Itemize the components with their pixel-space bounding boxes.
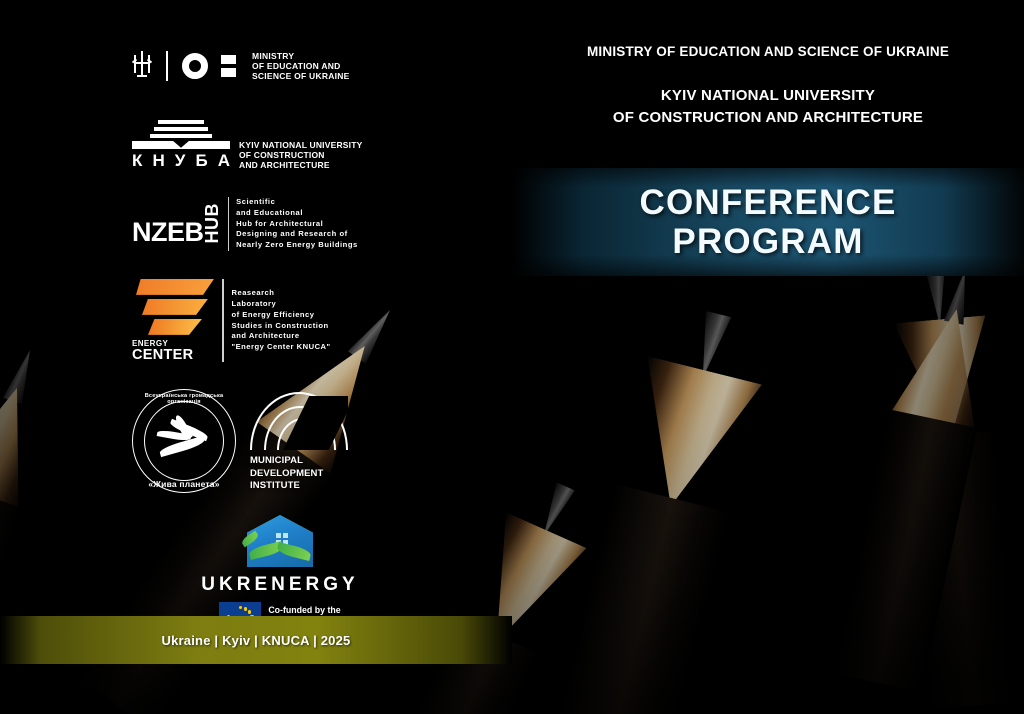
right-panel: MINISTRY OF EDUCATION AND SCIENCE OF UKR… bbox=[512, 0, 1024, 714]
zhyva-planeta-ring-top: Всеукраїнська громадська організація bbox=[133, 393, 235, 405]
ministry-ring-icon bbox=[182, 53, 208, 79]
logo-energy-center: ENERGY CENTER Reasearch Laboratory of En… bbox=[132, 279, 394, 363]
zhyva-planeta-emblem-icon: Всеукраїнська громадська організація «Жи… bbox=[132, 389, 236, 493]
ukrenergy-house-emblem-icon bbox=[247, 515, 313, 567]
knuba-letter: Б bbox=[195, 151, 207, 171]
zhyva-planeta-ring-bottom: «Жива планета» bbox=[133, 479, 235, 489]
partner-logo-column: MINISTRY OF EDUCATION AND SCIENCE OF UKR… bbox=[132, 38, 394, 630]
ukrenergy-wordmark: UKRENERGY bbox=[201, 574, 358, 596]
knuba-emblem-icon: К Н У Б А bbox=[132, 120, 230, 171]
logo-ministry-of-education: MINISTRY OF EDUCATION AND SCIENCE OF UKR… bbox=[132, 38, 394, 94]
footer-left: Ukraine | Kyiv | KNUCA | 2025 bbox=[0, 616, 512, 664]
knuba-letter: Н bbox=[152, 151, 164, 171]
hub-wordmark: HUB bbox=[204, 203, 221, 244]
logo-divider bbox=[228, 197, 230, 251]
logo-divider bbox=[222, 279, 224, 363]
logo-nzeb-label: Scientific and Educational Hub for Archi… bbox=[236, 197, 358, 251]
logo-ukrenergy: UKRENERGY Co-funded by the European Unio… bbox=[180, 515, 380, 630]
banner-line-1: CONFERENCE bbox=[639, 183, 896, 222]
logo-divider bbox=[166, 51, 168, 81]
logo-knuba-label: KYIV NATIONAL UNIVERSITY OF CONSTRUCTION… bbox=[239, 140, 363, 170]
cover-header: MINISTRY OF EDUCATION AND SCIENCE OF UKR… bbox=[512, 44, 1024, 129]
conference-program-banner: CONFERENCE PROGRAM bbox=[512, 168, 1024, 276]
energy-center-emblem-icon: ENERGY CENTER bbox=[132, 279, 214, 363]
leaf-icon bbox=[155, 412, 213, 470]
banner-line-2: PROGRAM bbox=[672, 222, 863, 261]
conference-program-poster: MINISTRY OF EDUCATION AND SCIENCE OF UKR… bbox=[0, 0, 1024, 714]
knuba-wordmark: К Н У Б А bbox=[132, 151, 230, 171]
logo-mdi-label: MUNICIPAL DEVELOPMENT INSTITUTE bbox=[250, 455, 348, 493]
cover-ministry-line: MINISTRY OF EDUCATION AND SCIENCE OF UKR… bbox=[512, 44, 1024, 59]
ministry-bars-icon bbox=[221, 55, 236, 77]
cover-university-line: KYIV NATIONAL UNIVERSITY OF CONSTRUCTION… bbox=[512, 85, 1024, 129]
footer-left-text: Ukraine | Kyiv | KNUCA | 2025 bbox=[162, 633, 351, 648]
knuba-letter: К bbox=[132, 151, 142, 171]
municipal-development-institute-emblem-icon bbox=[250, 388, 348, 450]
left-panel: MINISTRY OF EDUCATION AND SCIENCE OF UKR… bbox=[0, 0, 512, 714]
knuba-letter: У bbox=[175, 151, 186, 171]
logo-nzeb-hub: NZEB HUB Scientific and Educational Hub … bbox=[132, 197, 394, 251]
logo-ngo-row: Всеукраїнська громадська організація «Жи… bbox=[132, 388, 394, 493]
knuba-letter: А bbox=[218, 151, 230, 171]
logo-municipal-development-institute: MUNICIPAL DEVELOPMENT INSTITUTE bbox=[250, 388, 348, 493]
logo-energy-center-label: Reasearch Laboratory of Energy Efficienc… bbox=[232, 288, 331, 353]
nzeb-hub-emblem-icon: NZEB HUB bbox=[132, 203, 221, 245]
logo-ministry-label: MINISTRY OF EDUCATION AND SCIENCE OF UKR… bbox=[252, 51, 350, 81]
ukraine-trident-emblem-icon bbox=[132, 51, 152, 81]
nzeb-wordmark: NZEB bbox=[132, 220, 204, 244]
energy-center-mark-bottom: CENTER bbox=[132, 348, 214, 363]
logo-knuba: К Н У Б А KYIV NATIONAL UNIVERSITY OF CO… bbox=[132, 120, 394, 171]
